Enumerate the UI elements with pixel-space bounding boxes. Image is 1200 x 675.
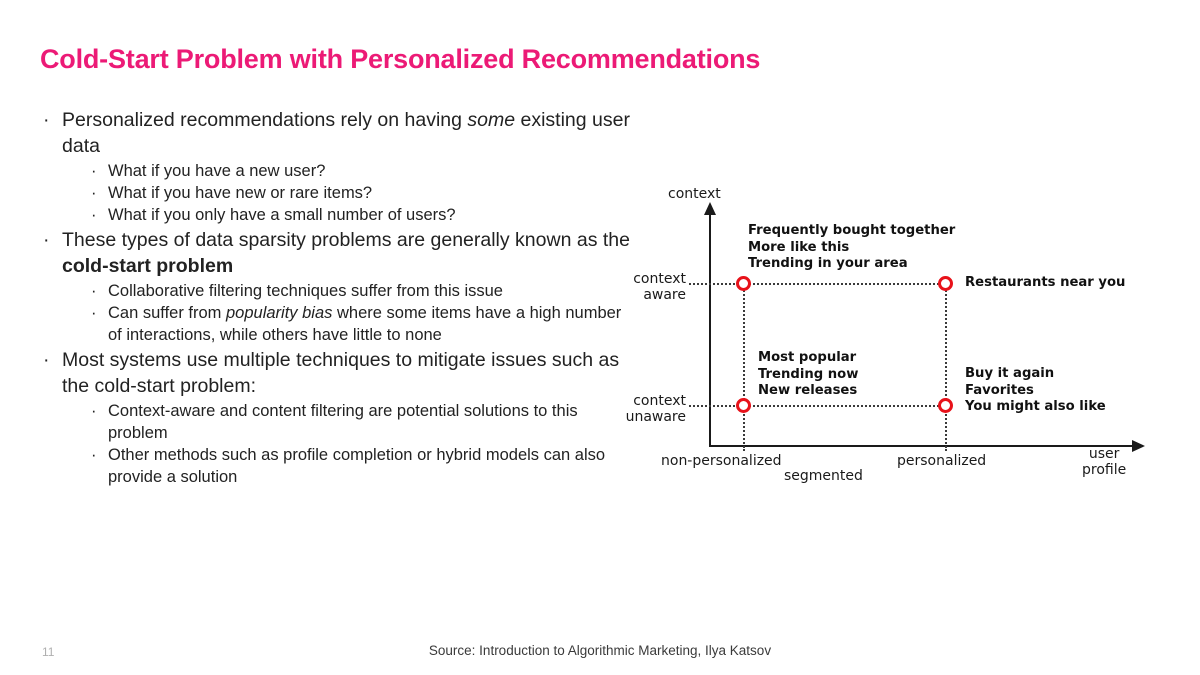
annotation-line: Most popular <box>758 350 858 367</box>
y-tick-context-aware: context aware <box>620 271 686 303</box>
bullet-level1: ·These types of data sparsity problems a… <box>36 228 636 279</box>
x-tick-segmented: segmented <box>784 468 863 484</box>
x-axis-arrow-icon <box>1132 440 1145 452</box>
annotation-bottom-right: Buy it again Favorites You might also li… <box>965 366 1106 416</box>
y-axis-arrow-icon <box>704 202 716 215</box>
bullet-level2: ·Can suffer from popularity bias where s… <box>36 302 636 346</box>
bullet-marker: · <box>91 444 97 466</box>
annotation-line: You might also like <box>965 399 1106 416</box>
bullet-group-2: ·These types of data sparsity problems a… <box>36 228 636 346</box>
x-axis-title: user profile <box>1082 446 1126 478</box>
data-point-bottom-left <box>736 398 751 413</box>
annotation-line: Frequently bought together <box>748 223 955 240</box>
x-axis-line <box>709 445 1135 447</box>
bullet-level2: ·Context-aware and content filtering are… <box>36 400 636 444</box>
x-tick-non-personalized: non-personalized <box>661 453 782 469</box>
y-tick-line: context <box>620 393 686 409</box>
bullet-text-part: Personalized recommendations rely on hav… <box>62 109 467 131</box>
annotation-line: Favorites <box>965 383 1106 400</box>
bullet-text-part: Can suffer from <box>108 304 226 322</box>
annotation-line: Buy it again <box>965 366 1106 383</box>
annotation-line: Trending now <box>758 367 858 384</box>
source-citation: Source: Introduction to Algorithmic Mark… <box>0 643 1200 658</box>
annotation-bottom-left: Most popular Trending now New releases <box>758 350 858 400</box>
y-axis-line <box>709 213 711 447</box>
bullet-level2: ·What if you have new or rare items? <box>36 182 636 204</box>
y-tick-context-unaware: context unaware <box>620 393 686 425</box>
bullet-marker: · <box>91 400 97 422</box>
bullet-text-italic: popularity bias <box>226 304 332 322</box>
gridline-context-aware <box>689 283 951 285</box>
bullet-text-part: These types of data sparsity problems ar… <box>62 229 630 251</box>
data-point-top-right <box>938 276 953 291</box>
bullet-text: Context-aware and content filtering are … <box>108 402 578 442</box>
bullet-level2: ·What if you only have a small number of… <box>36 204 636 226</box>
bullet-marker: · <box>91 280 97 302</box>
bullet-group-1: ·Personalized recommendations rely on ha… <box>36 108 636 226</box>
bullet-marker: · <box>91 160 97 182</box>
annotation-line: Restaurants near you <box>965 275 1125 292</box>
y-tick-line: context <box>620 271 686 287</box>
y-tick-line: aware <box>620 287 686 303</box>
annotation-top-right: Restaurants near you <box>965 275 1125 292</box>
bullet-level2: ·Collaborative filtering techniques suff… <box>36 280 636 302</box>
data-point-top-left <box>736 276 751 291</box>
bullet-text: What if you only have a small number of … <box>108 206 456 224</box>
bullet-text: Other methods such as profile completion… <box>108 446 605 486</box>
page-title: Cold-Start Problem with Personalized Rec… <box>40 44 760 75</box>
x-tick-personalized: personalized <box>897 453 986 469</box>
bullet-group-3: ·Most systems use multiple techniques to… <box>36 348 636 488</box>
bullet-text-bold: cold-start problem <box>62 255 233 277</box>
bullet-marker: · <box>43 348 50 374</box>
gridline-non-personalized <box>743 283 745 451</box>
y-tick-line: unaware <box>620 409 686 425</box>
bullet-level1: ·Most systems use multiple techniques to… <box>36 348 636 399</box>
bullet-marker: · <box>91 182 97 204</box>
data-point-bottom-right <box>938 398 953 413</box>
bullet-text: Most systems use multiple techniques to … <box>62 349 619 397</box>
annotation-line: More like this <box>748 240 955 257</box>
slide-body: ·Personalized recommendations rely on ha… <box>36 108 636 490</box>
x-axis-title-line: profile <box>1082 462 1126 478</box>
y-axis-title: context <box>668 186 721 202</box>
x-axis-title-line: user <box>1082 446 1126 462</box>
bullet-marker: · <box>43 228 50 254</box>
bullet-text: Collaborative filtering techniques suffe… <box>108 282 503 300</box>
bullet-marker: · <box>91 204 97 226</box>
annotation-line: New releases <box>758 383 858 400</box>
annotation-line: Trending in your area <box>748 256 955 273</box>
annotation-top-left: Frequently bought together More like thi… <box>748 223 955 273</box>
bullet-level2: ·What if you have a new user? <box>36 160 636 182</box>
bullet-level1: ·Personalized recommendations rely on ha… <box>36 108 636 159</box>
bullet-text: What if you have new or rare items? <box>108 184 372 202</box>
bullet-text: What if you have a new user? <box>108 162 325 180</box>
recommendation-quadrant-chart: Frequently bought together More like thi… <box>620 178 1160 488</box>
bullet-text-italic: some <box>467 109 515 131</box>
bullet-marker: · <box>91 302 97 324</box>
gridline-personalized <box>945 283 947 451</box>
bullet-level2: ·Other methods such as profile completio… <box>36 444 636 488</box>
gridline-context-unaware <box>689 405 951 407</box>
bullet-marker: · <box>43 108 50 134</box>
